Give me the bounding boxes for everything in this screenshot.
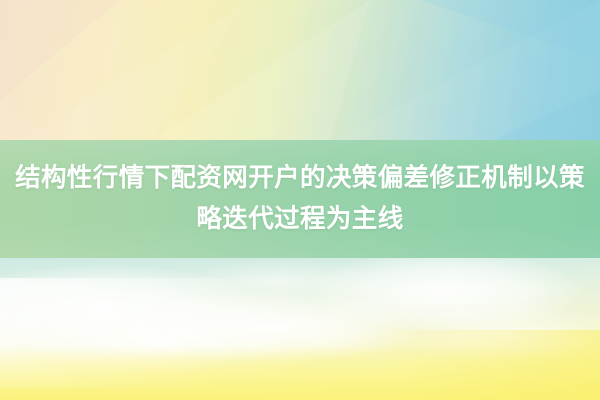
bottom-gradient-decoration	[0, 258, 600, 400]
cloud-shape	[180, 260, 380, 304]
bottom-warm-overlay	[0, 346, 600, 400]
top-gradient-decoration	[0, 0, 600, 142]
headline-band: 结构性行情下配资网开户的决策偏差修正机制以策略迭代过程为主线	[0, 140, 600, 258]
bottom-warm-right-overlay	[300, 330, 600, 400]
page-title: 结构性行情下配资网开户的决策偏差修正机制以策略迭代过程为主线	[5, 158, 595, 240]
cloud-shape	[120, 292, 420, 362]
haze-overlay-decoration	[0, 278, 300, 388]
cloud-shape	[380, 304, 600, 364]
cloud-shape	[310, 258, 580, 330]
cloud-shape	[0, 266, 270, 358]
cloud-shape	[30, 316, 290, 372]
article-banner: 结构性行情下配资网开户的决策偏差修正机制以策略迭代过程为主线	[0, 0, 600, 400]
low-poly-facets-decoration	[0, 0, 600, 142]
